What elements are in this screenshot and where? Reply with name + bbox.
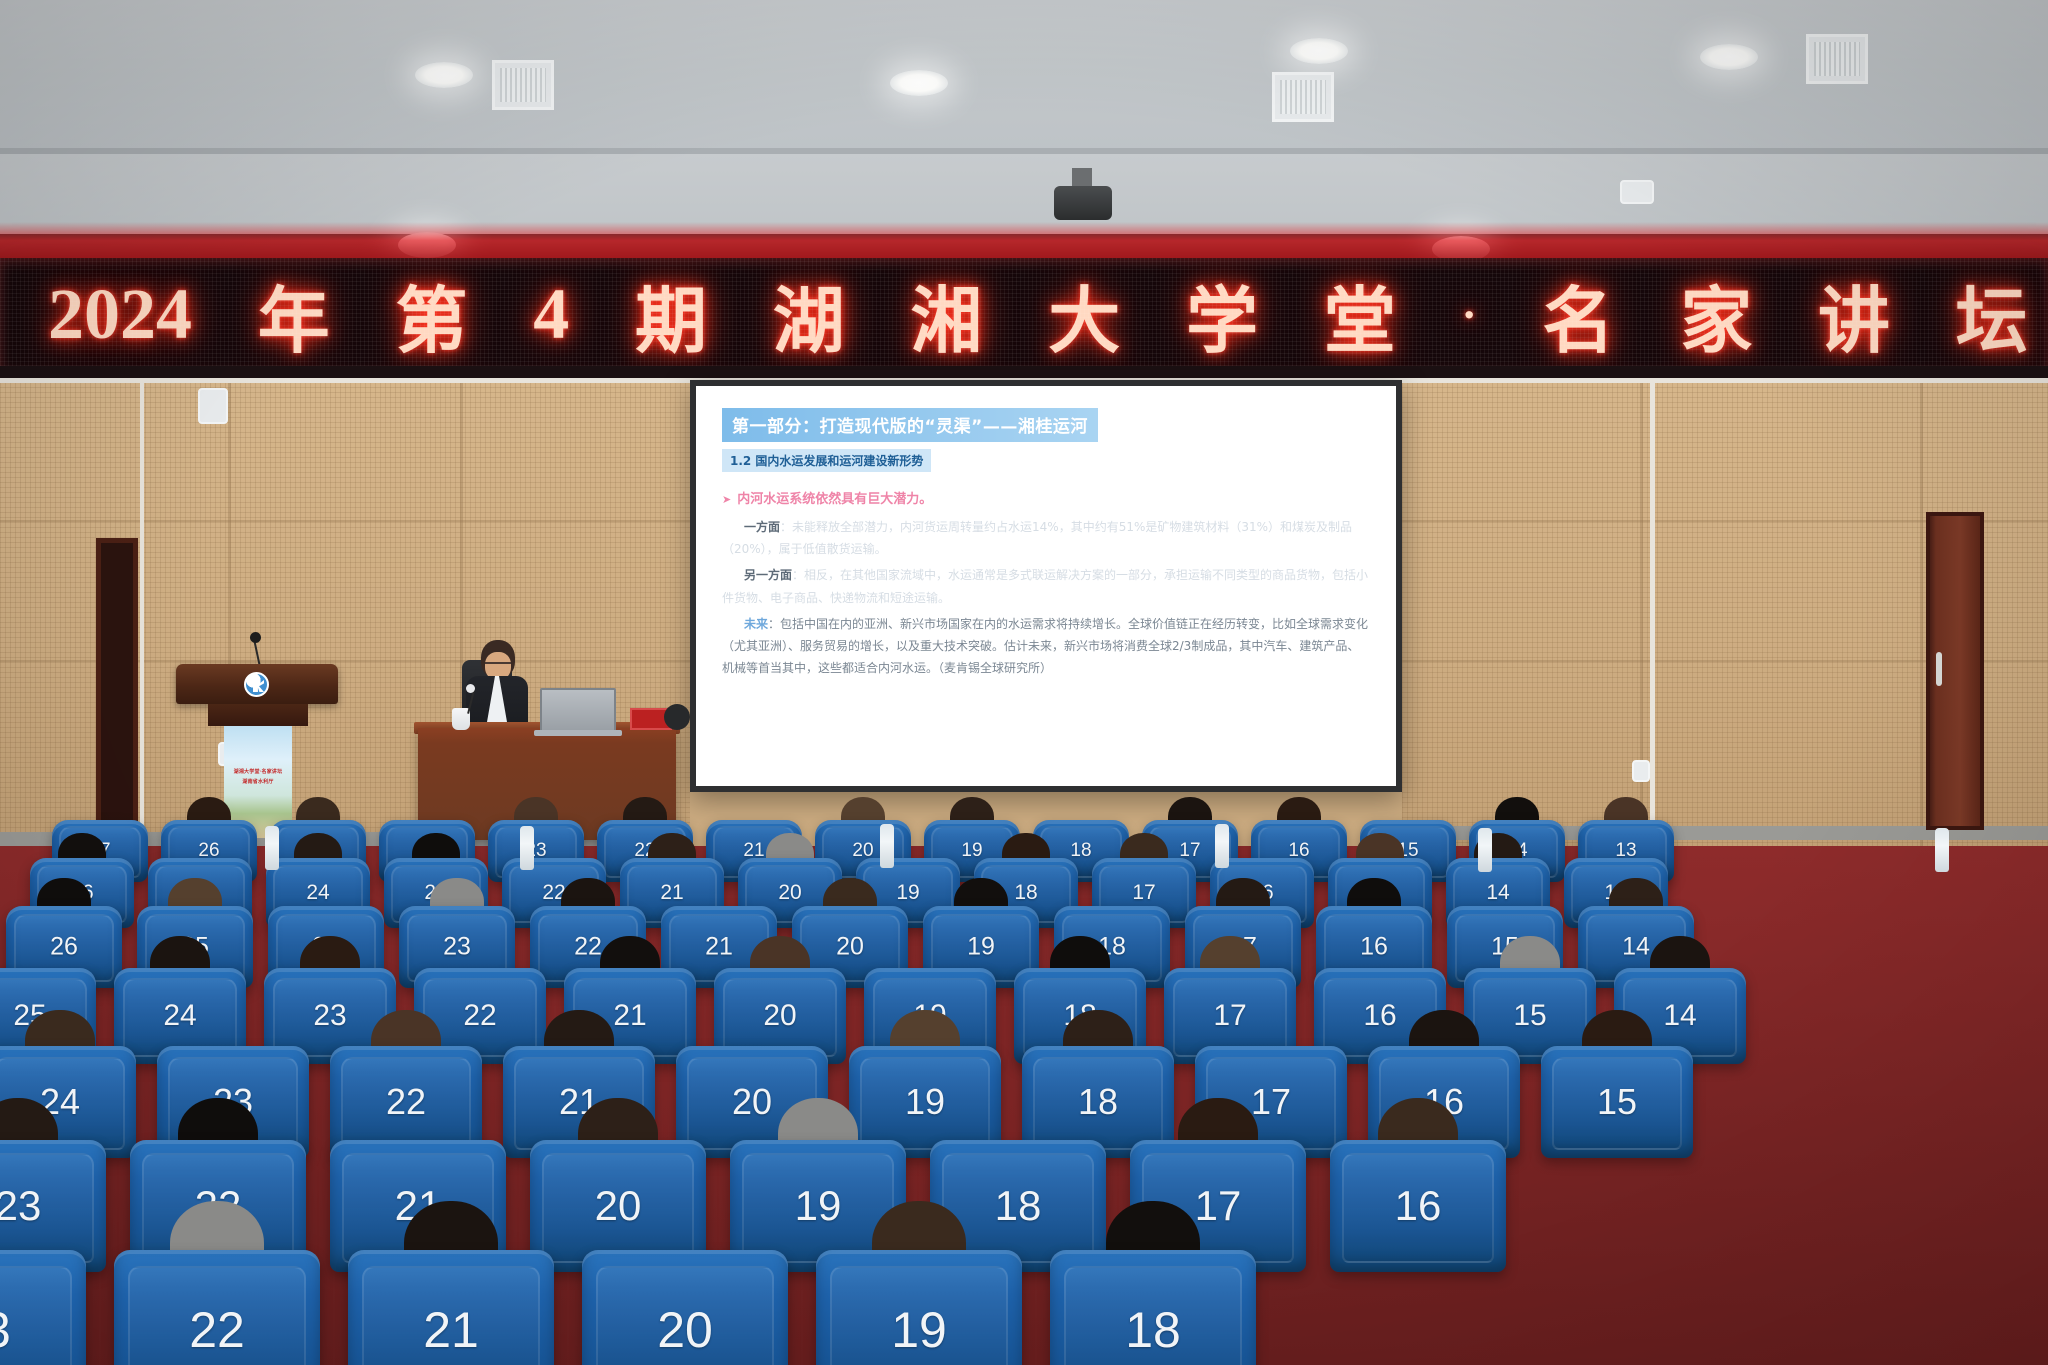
projection-screen: 第一部分：打造现代版的“灵渠”——湘桂运河 1.2 国内水运发展和运河建设新形势… — [696, 386, 1396, 786]
led-seg-jiang: 讲 — [1818, 262, 1890, 367]
seat-number-label: 19 — [923, 933, 1039, 962]
water-bottle-icon — [1478, 828, 1492, 872]
ceiling-downlight-icon — [415, 62, 473, 88]
door-handle-icon — [1936, 652, 1942, 686]
led-seg-number: 4 — [533, 273, 569, 356]
institution-logo-icon — [244, 672, 269, 697]
seat-number-label: 20 — [714, 999, 846, 1033]
desk-equipment-icon — [664, 704, 690, 730]
seat-number-label: 20 — [530, 1182, 706, 1230]
seat-number-label: 18 — [1050, 1301, 1256, 1359]
audience-seat[interactable]: 15 — [1541, 1046, 1693, 1158]
seat-number-label: 23 — [0, 1301, 86, 1359]
water-bottle-icon — [880, 824, 894, 868]
audience-seating-area: 2726252423222120191817161514132625242322… — [0, 820, 2048, 1365]
wall-panel-seam — [0, 520, 690, 522]
seat-number-label: 18 — [1022, 1081, 1174, 1123]
audience-seat[interactable]: 20 — [582, 1250, 788, 1365]
slide-paragraph-2: 另一方面：相反，在其他国家流域中，水运通常是多式联运解决方案的一部分，承担运输不… — [722, 564, 1370, 608]
seat-number-label: 15 — [1541, 1081, 1693, 1123]
led-seg-nian: 年 — [258, 262, 330, 367]
seat-number-label: 23 — [399, 933, 515, 962]
wall-vertical-trim — [1650, 378, 1655, 844]
led-seg-qi: 期 — [635, 262, 707, 367]
led-banner-bottom-frame — [0, 366, 2048, 378]
seat-number-label: 23 — [0, 1182, 106, 1230]
led-banner-board: 2024 年 第 4 期 湖 湘 大 学 堂 · 名 家 讲 坛 — [0, 258, 2048, 370]
presentation-slide: 第一部分：打造现代版的“灵渠”——湘桂运河 1.2 国内水运发展和运河建设新形势… — [696, 386, 1396, 786]
slide-paragraph-3-label: 未来 — [744, 617, 768, 631]
seat-number-label: 24 — [114, 999, 246, 1033]
smoke-detector-icon — [1620, 180, 1654, 204]
slide-paragraph-2-label: 另一方面 — [744, 568, 792, 582]
laptop-icon — [540, 688, 616, 732]
seat-number-label: 22 — [330, 1081, 482, 1123]
podium-neck — [208, 704, 308, 726]
led-seg-hu: 湖 — [773, 262, 845, 367]
desk-microphone-icon — [466, 684, 475, 693]
slide-subtitle: 1.2 国内水运发展和运河建设新形势 — [722, 449, 931, 472]
glasses-icon — [485, 662, 511, 667]
led-seg-year: 2024 — [48, 273, 192, 356]
seat-number-label: 24 — [266, 881, 370, 905]
led-seg-xue: 学 — [1186, 262, 1258, 367]
seat-number-label: 19 — [816, 1301, 1022, 1359]
laptop-base — [534, 730, 622, 736]
led-seg-xiang: 湘 — [910, 262, 982, 367]
seat-number-label: 14 — [1446, 881, 1550, 905]
ceiling-downlight-icon — [890, 70, 948, 96]
seat-number-label: 19 — [849, 1081, 1001, 1123]
led-seg-tang: 堂 — [1324, 262, 1396, 367]
audience-seat[interactable]: 22 — [114, 1250, 320, 1365]
podium-banner-line-2: 湖南省水利厅 — [226, 778, 290, 788]
slide-bullet-line: ➤内河水运系统依然具有巨大潜力。 — [722, 488, 1370, 507]
wall-outlet-icon — [1632, 760, 1650, 782]
seat-number-label: 20 — [582, 1301, 788, 1359]
seat-number-label: 17 — [1092, 881, 1196, 905]
slide-paragraph-3-text: ：包括中国在内的亚洲、新兴市场国家在内的水运需求将持续增长。全球价值链正在经历转… — [722, 617, 1368, 675]
seat-number-label: 17 — [1164, 999, 1296, 1033]
led-banner-text: 2024 年 第 4 期 湖 湘 大 学 堂 · 名 家 讲 坛 — [48, 264, 2028, 364]
slide-bullet-text: 内河水运系统依然具有巨大潜力。 — [737, 492, 932, 507]
seat-number-label: 21 — [348, 1301, 554, 1359]
lecture-hall-photo: 2024 年 第 4 期 湖 湘 大 学 堂 · 名 家 讲 坛 — [0, 0, 2048, 1365]
slide-paragraph-1-label: 一方面 — [744, 520, 780, 534]
podium-banner-text: 湖湘大学堂·名家讲坛 湖南省水利厅 — [226, 768, 290, 787]
audience-seat[interactable]: 23 — [0, 1250, 86, 1365]
water-bottle-icon — [1215, 824, 1229, 868]
triangle-bullet-icon: ➤ — [722, 493, 731, 506]
ceiling-downlight-icon — [1700, 44, 1758, 70]
slide-paragraph-2-text: ：相反，在其他国家流域中，水运通常是多式联运解决方案的一部分，承担运输不同类型的… — [722, 568, 1368, 604]
hvac-vent-icon — [1272, 72, 1334, 122]
water-bottle-icon — [1935, 828, 1949, 872]
seat-number-label: 22 — [114, 1301, 320, 1359]
projection-screen-frame: 第一部分：打造现代版的“灵渠”——湘桂运河 1.2 国内水运发展和运河建设新形势… — [690, 380, 1402, 792]
seat-number-label: 21 — [620, 881, 724, 905]
led-seg-di: 第 — [395, 262, 467, 367]
water-bottle-icon — [265, 826, 279, 870]
led-seg-tan: 坛 — [1956, 262, 2028, 367]
slide-paragraph-1-text: ：未能释放全部潜力，内河货运周转量约占水运14%，其中约有51%是矿物建筑材料（… — [722, 520, 1352, 556]
audience-seat[interactable]: 16 — [1330, 1140, 1506, 1272]
ceiling-downlight-icon — [1290, 38, 1348, 64]
led-seg-jia: 家 — [1680, 262, 1752, 367]
slide-body: ➤内河水运系统依然具有巨大潜力。 一方面：未能释放全部潜力，内河货运周转量约占水… — [722, 488, 1370, 679]
projector-icon — [1054, 186, 1112, 220]
audience-seat[interactable]: 21 — [348, 1250, 554, 1365]
podium-banner-line-1: 湖湘大学堂·名家讲坛 — [226, 768, 290, 778]
hvac-vent-icon — [1806, 34, 1868, 84]
seat-number-label: 15 — [1464, 999, 1596, 1033]
led-seg-middot: · — [1461, 288, 1476, 341]
wall-vertical-trim — [140, 378, 144, 844]
door-right-closed[interactable] — [1926, 512, 1984, 830]
slide-paragraph-3: 未来：包括中国在内的亚洲、新兴市场国家在内的水运需求将持续增长。全球价值链正在经… — [722, 613, 1370, 680]
seat-number-label: 16 — [1316, 933, 1432, 962]
microphone-icon — [250, 632, 261, 643]
wall-panel-seam — [1920, 378, 1923, 848]
led-seg-da: 大 — [1048, 262, 1120, 367]
water-bottle-icon — [520, 826, 534, 870]
ceiling-upper-surface — [0, 0, 2048, 170]
audience-seat[interactable]: 18 — [1050, 1250, 1256, 1365]
seat-number-label: 26 — [6, 933, 122, 962]
audience-seat[interactable]: 19 — [816, 1250, 1022, 1365]
slide-paragraph-1: 一方面：未能释放全部潜力，内河货运周转量约占水运14%，其中约有51%是矿物建筑… — [722, 516, 1370, 560]
door-left-open[interactable] — [96, 538, 138, 838]
slide-title: 第一部分：打造现代版的“灵渠”——湘桂运河 — [722, 408, 1098, 442]
led-seg-ming: 名 — [1543, 262, 1615, 367]
wall-speaker-icon — [198, 388, 228, 424]
hvac-vent-icon — [492, 60, 554, 110]
seat-number-label: 16 — [1330, 1182, 1506, 1230]
